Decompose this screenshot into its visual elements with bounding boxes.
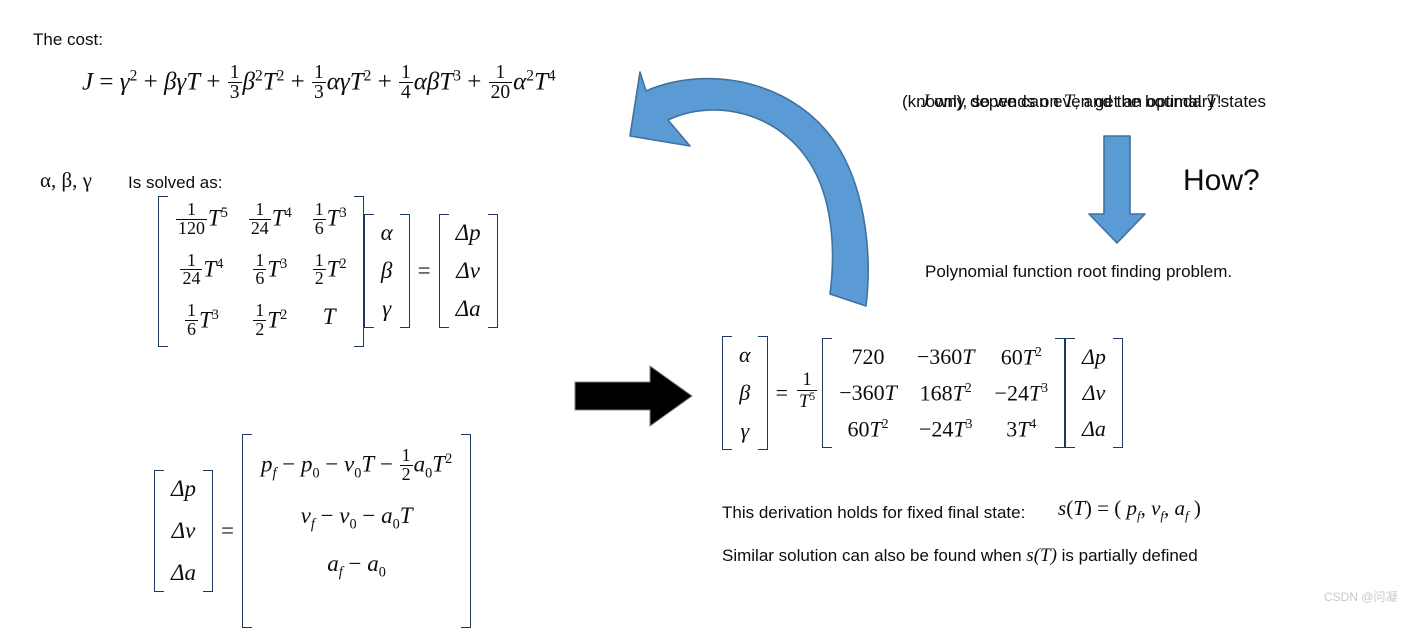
equals-sign: = <box>768 380 796 406</box>
vector-cell: Δp <box>161 474 206 504</box>
inverse-matrix-bracket: 720 −360T 60T2 −360T 168T2 −24T3 60T2 −2… <box>822 338 1065 449</box>
fixed-state-math: s(T) = ( pf, vf, af ) <box>1058 496 1201 524</box>
vector-cell: β <box>371 256 403 286</box>
vector-cell: α <box>729 340 761 370</box>
solution-rhs-bracket: Δp Δv Δa <box>1065 338 1123 448</box>
solved-variables: α, β, γ <box>40 168 92 193</box>
how-label: How? <box>1183 164 1260 198</box>
delta-definition-equation: Δp Δv Δa = pf − p0 − v0T − 12a0T2 vf − v… <box>154 434 471 628</box>
matrix-cell: T <box>302 302 357 343</box>
coefficient-matrix-bracket: 1120T5 124T4 16T3 124T4 16T3 12T2 <box>158 196 364 347</box>
blue-curved-left-arrow-icon <box>628 58 893 318</box>
vector-cell: β <box>729 378 761 408</box>
matrix-cell: −24T3 <box>907 414 985 444</box>
matrix-cell: 12T2 <box>238 302 302 343</box>
matrix-cell: 16T3 <box>302 200 357 241</box>
matrix-cell: 720 <box>829 342 907 372</box>
matrix-cell: −360T <box>829 378 907 408</box>
system-matrix-equation: 1120T5 124T4 16T3 124T4 16T3 12T2 <box>158 196 498 347</box>
delta-rhs-bracket: pf − p0 − v0T − 12a0T2 vf − v0 − a0T af … <box>242 434 471 628</box>
equals-sign: = <box>410 258 439 284</box>
note-line-2: (known), so we can even get an optimal T… <box>902 89 1222 114</box>
vector-cell: Δa <box>446 294 491 324</box>
matrix-cell: 60T2 <box>985 342 1058 372</box>
csdn-watermark: CSDN @问凝 <box>1324 588 1398 605</box>
vector-cell: γ <box>729 416 761 446</box>
partial-text-post: is partially defined <box>1057 546 1198 565</box>
vector-cell: Δv <box>161 516 206 546</box>
vector-cell: γ <box>371 294 403 324</box>
matrix-cell-spacer <box>251 598 462 616</box>
vector-cell: Δv <box>1072 378 1116 408</box>
matrix-cell: −360T <box>907 342 985 372</box>
matrix-cell: 16T3 <box>238 251 302 292</box>
solved-as-label: Is solved as: <box>128 170 223 195</box>
blue-down-arrow-icon <box>1086 134 1148 246</box>
polynomial-line: Polynomial function root finding problem… <box>925 259 1232 284</box>
matrix-cell: 12T2 <box>302 251 357 292</box>
vector-cell: Δp <box>446 218 491 248</box>
vector-cell: α <box>371 218 403 248</box>
matrix-cell: 3T4 <box>985 414 1058 444</box>
matrix-cell: pf − p0 − v0T − 12a0T2 <box>251 446 462 487</box>
matrix-cell: 168T2 <box>907 378 985 408</box>
delta-lhs-bracket: Δp Δv Δa <box>154 470 213 592</box>
matrix-cell: 124T4 <box>238 200 302 241</box>
matrix-cell: 16T3 <box>165 302 238 343</box>
matrix-cell: −24T3 <box>985 378 1058 408</box>
slide-canvas: The cost: J = γ2 + βγT + 13β2T2 + 13αγT2… <box>0 0 1418 612</box>
vector-cell: Δv <box>446 256 491 286</box>
vector-cell: Δa <box>1072 414 1116 444</box>
partial-definition-text: Similar solution can also be found when … <box>722 543 1198 568</box>
inverse-scalar-factor: 1 T5 <box>796 373 818 414</box>
partial-text-math: s(T) <box>1026 545 1057 566</box>
matrix-cell: 124T4 <box>165 251 238 292</box>
delta-vector-bracket: Δp Δv Δa <box>439 214 498 328</box>
matrix-cell: af − a0 <box>251 549 462 584</box>
solution-lhs-bracket: α β γ <box>722 336 768 450</box>
cost-equation: J = γ2 + βγT + 13β2T2 + 13αγT2 + 14αβT3 … <box>82 64 556 104</box>
partial-text-pre: Similar solution can also be found when <box>722 546 1026 565</box>
cost-label: The cost: <box>33 27 103 52</box>
solution-matrix-equation: α β γ = 1 T5 720 −360T 60T2 −360T 168T2 … <box>722 336 1123 450</box>
equals-sign: = <box>213 518 242 544</box>
black-right-arrow-icon <box>574 364 694 428</box>
fixed-state-text: This derivation holds for fixed final st… <box>722 500 1025 525</box>
vector-cell: Δa <box>161 558 206 588</box>
matrix-cell: vf − v0 − a0T <box>251 501 462 536</box>
unknown-vector-bracket: α β γ <box>364 214 410 328</box>
vector-cell: Δp <box>1072 342 1116 372</box>
matrix-cell: 1120T5 <box>165 200 238 241</box>
matrix-cell: 60T2 <box>829 414 907 444</box>
